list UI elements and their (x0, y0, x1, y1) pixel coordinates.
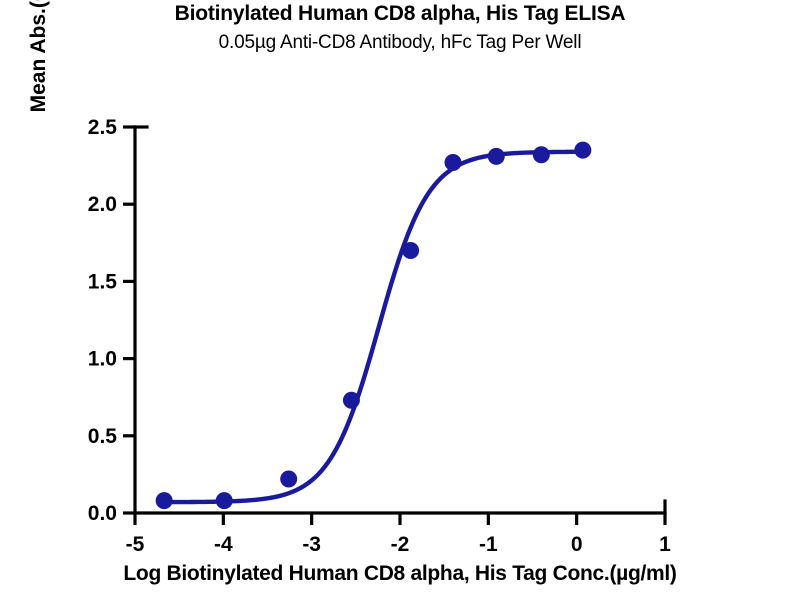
y-tick-label: 1.0 (88, 348, 117, 371)
fit-curve (164, 152, 583, 502)
fit-curve-group (164, 152, 583, 502)
x-tick-label: 1 (659, 533, 671, 556)
y-tick-label: 1.5 (88, 270, 118, 293)
x-tick-label: -5 (126, 533, 145, 556)
data-point (533, 146, 550, 163)
elisa-chart-figure: Biotinylated Human CD8 alpha, His Tag EL… (0, 0, 800, 600)
y-tick-label: 0.5 (88, 425, 118, 448)
x-tick-label: 0 (571, 533, 583, 556)
data-point (343, 392, 360, 409)
y-tick-label: 0.0 (88, 502, 117, 525)
x-tick-label: -1 (479, 533, 498, 556)
data-point (488, 148, 505, 165)
x-tick-label: -4 (214, 533, 233, 556)
x-tick-label: -3 (302, 533, 321, 556)
data-point (156, 492, 173, 509)
data-point (402, 242, 419, 259)
y-tick-label: 2.5 (88, 116, 118, 139)
y-axis-ticks: 0.00.51.01.52.02.5 (88, 116, 135, 525)
data-points-group (156, 142, 592, 509)
y-tick-label: 2.0 (88, 193, 117, 216)
data-point (280, 471, 297, 488)
x-tick-label: -2 (391, 533, 410, 556)
data-point (445, 154, 462, 171)
plot-area: 0.00.51.01.52.02.5 -5-4-3-2-101 (0, 0, 800, 600)
data-point (574, 142, 591, 159)
data-point (216, 492, 233, 509)
x-axis-ticks: -5-4-3-2-101 (126, 513, 672, 556)
axis-frame (135, 127, 665, 513)
